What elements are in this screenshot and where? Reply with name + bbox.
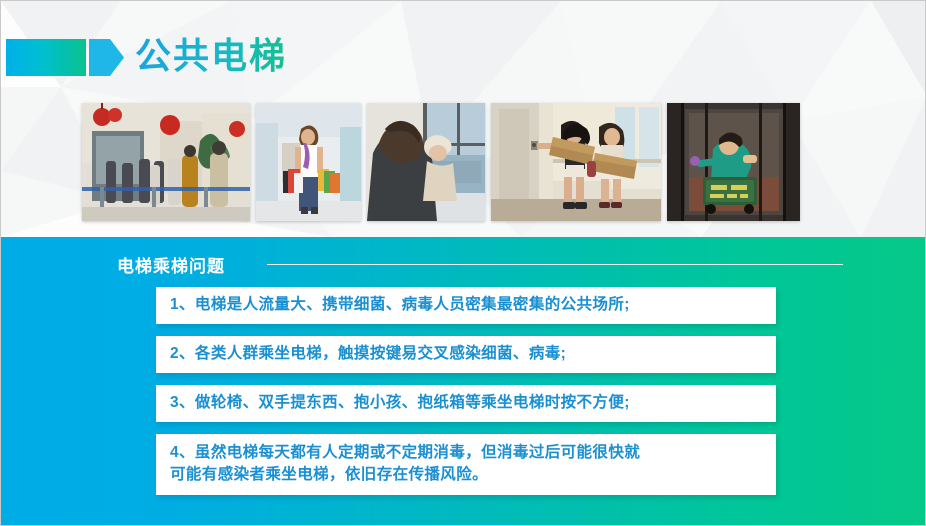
problem-card-text: 3、做轮椅、双手提东西、抱小孩、抱纸箱等乘坐电梯时按不方便; <box>170 392 764 414</box>
photo-strip <box>82 103 808 221</box>
problem-card-list: 1、电梯是人流量大、携带细菌、病毒人员密集最密集的公共场所; 2、各类人群乘坐电… <box>156 287 776 507</box>
photo-elevator-cart <box>667 103 800 221</box>
problem-card-text-line2: 可能有感染者乘坐电梯，依旧存在传播风险。 <box>170 464 764 486</box>
section-heading: 电梯乘梯问题 <box>117 252 225 277</box>
photo-shopper-bags <box>256 103 361 221</box>
slide-root: 公共电梯 <box>0 0 926 526</box>
problem-card-text: 4、虽然电梯每天都有人定期或不定期消毒，但消毒过后可能很快就 <box>170 442 764 464</box>
problem-card[interactable]: 3、做轮椅、双手提东西、抱小孩、抱纸箱等乘坐电梯时按不方便; <box>156 385 776 422</box>
section-divider <box>267 264 843 265</box>
problem-card-text: 2、各类人群乘坐电梯，触摸按键易交叉感染细菌、病毒; <box>170 343 764 365</box>
title-badge-bar <box>6 39 86 76</box>
photo-carrying-boxes <box>491 103 661 221</box>
page-title: 公共电梯 <box>135 31 287 81</box>
section-header: 电梯乘梯问题 <box>117 252 847 277</box>
problem-card[interactable]: 1、电梯是人流量大、携带细菌、病毒人员密集最密集的公共场所; <box>156 287 776 324</box>
photo-lobby-queue <box>82 103 250 221</box>
photo-parent-child <box>367 103 485 221</box>
top-section: 公共电梯 <box>1 1 926 237</box>
problem-card[interactable]: 2、各类人群乘坐电梯，触摸按键易交叉感染细菌、病毒; <box>156 336 776 373</box>
problem-card[interactable]: 4、虽然电梯每天都有人定期或不定期消毒，但消毒过后可能很快就 可能有感染者乘坐电… <box>156 434 776 495</box>
problem-card-text: 1、电梯是人流量大、携带细菌、病毒人员密集最密集的公共场所; <box>170 294 764 316</box>
